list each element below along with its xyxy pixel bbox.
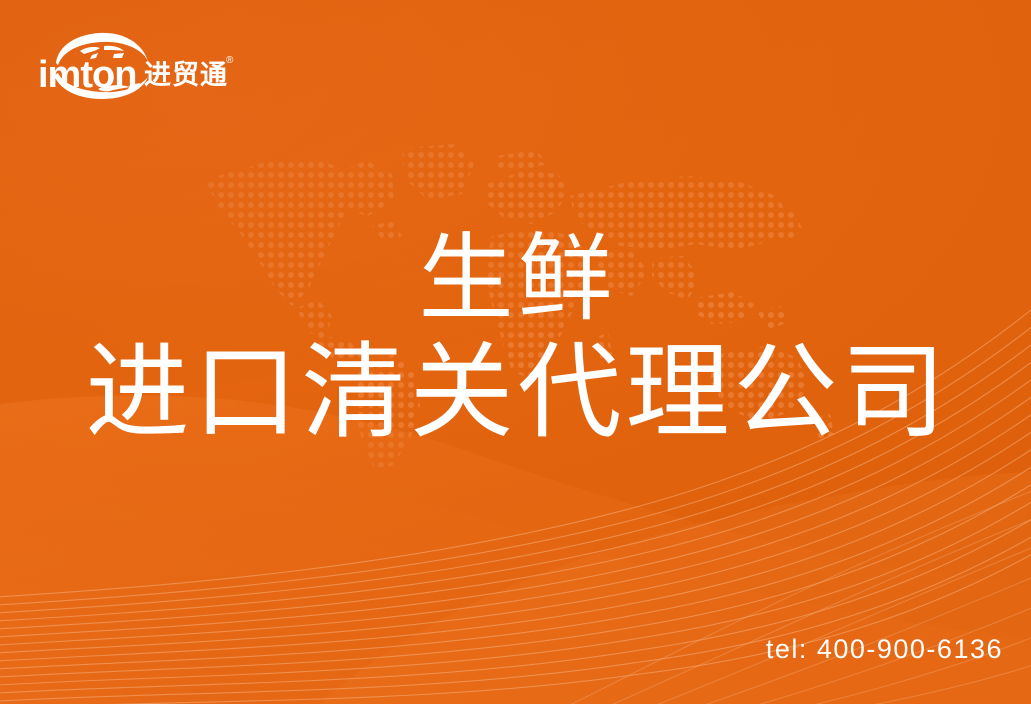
logo-latin-text: imton [38, 54, 136, 96]
headline-block: 生鲜 进口清关代理公司 [0, 232, 1031, 445]
logo-cn-text: 进贸通 [144, 60, 228, 90]
contact-phone[interactable]: tel: 400-900-6136 [766, 634, 1003, 665]
headline-line-1: 生鲜 [0, 232, 1031, 327]
promotional-banner: imton 进贸通 ® 生鲜 进口清关代理公司 tel: 400-900-613… [0, 0, 1031, 704]
registered-mark: ® [226, 55, 234, 66]
headline-line-2: 进口清关代理公司 [0, 341, 1031, 445]
brand-logo[interactable]: imton 进贸通 ® [36, 29, 236, 101]
